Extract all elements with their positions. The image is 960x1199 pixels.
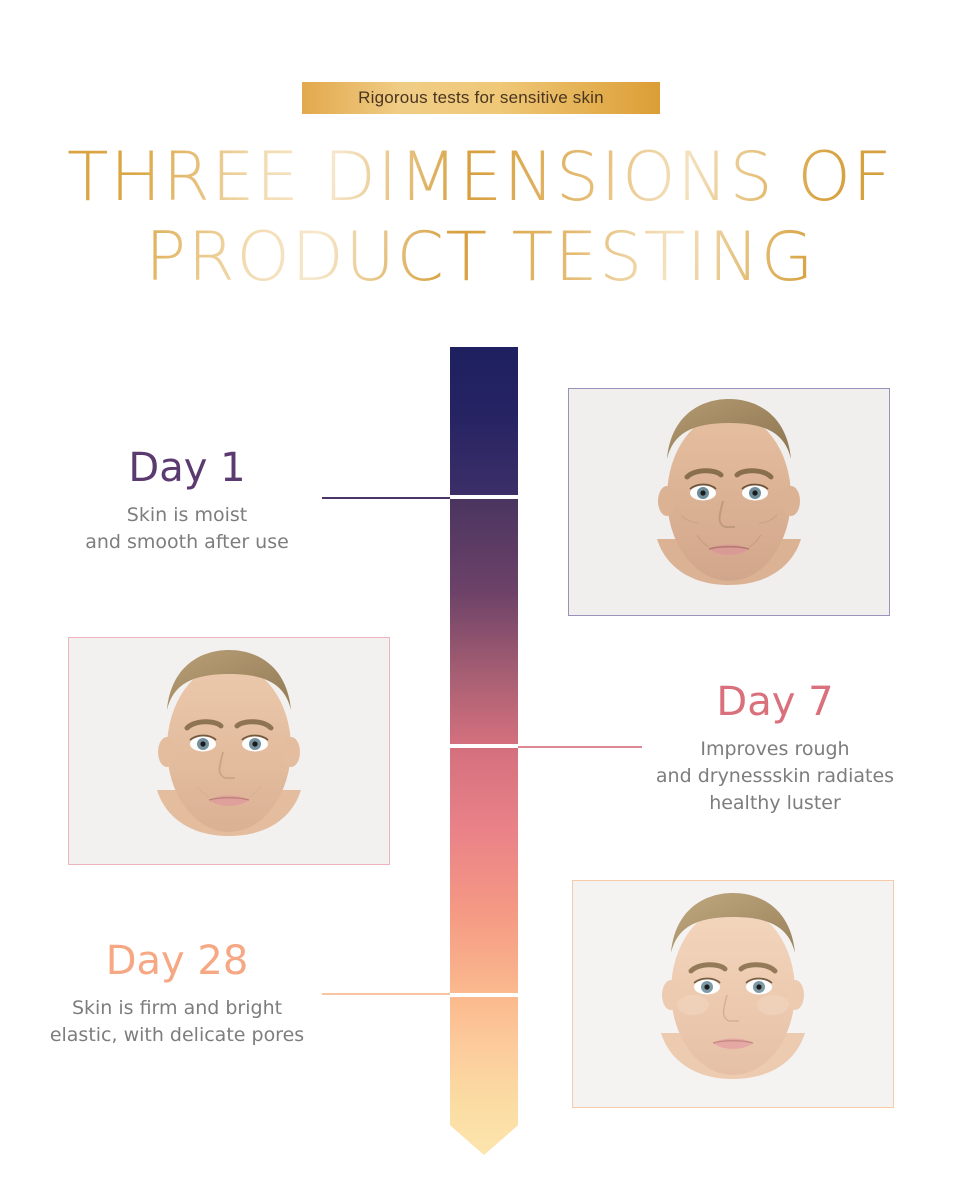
stage-text-day-28: Day 28 Skin is firm and bright elastic, … bbox=[32, 941, 322, 1049]
stage-description-day-7: Improves rough and drynessskin radiates … bbox=[640, 736, 910, 817]
timeline-spine bbox=[450, 347, 518, 1155]
stage-description-day-28: Skin is firm and bright elastic, with de… bbox=[32, 995, 322, 1049]
stage-desc-line-2: elastic, with delicate pores bbox=[32, 1022, 322, 1049]
stage-desc-line-2: and smooth after use bbox=[52, 529, 322, 556]
spine-arrow-tip bbox=[450, 1107, 518, 1155]
connector-line-day-28 bbox=[322, 993, 450, 995]
stage-label-day-7: Day 7 bbox=[640, 682, 910, 722]
page-title: THREE DIMENSIONS OF PRODUCT TESTING bbox=[0, 138, 960, 298]
connector-line-day-7 bbox=[518, 746, 642, 748]
face-image-day-7 bbox=[69, 638, 389, 864]
connector-line-day-1 bbox=[322, 497, 450, 499]
stage-label-day-1: Day 1 bbox=[52, 448, 322, 488]
page-title-line-2: PRODUCT TESTING bbox=[0, 218, 960, 298]
spine-segment-4 bbox=[450, 997, 518, 1107]
stage-desc-line-1: Skin is firm and bright bbox=[32, 995, 322, 1022]
stage-photo-day-1 bbox=[568, 388, 890, 616]
face-image-day-1 bbox=[569, 389, 889, 615]
stage-photo-day-28 bbox=[572, 880, 894, 1108]
stage-text-day-1: Day 1 Skin is moist and smooth after use bbox=[52, 448, 322, 556]
stage-photo-day-7 bbox=[68, 637, 390, 865]
banner-text: Rigorous tests for sensitive skin bbox=[358, 88, 604, 108]
stage-desc-line-1: Skin is moist bbox=[52, 502, 322, 529]
face-illustration bbox=[573, 881, 893, 1107]
stage-desc-line-3: healthy luster bbox=[640, 790, 910, 817]
stage-description-day-1: Skin is moist and smooth after use bbox=[52, 502, 322, 556]
banner-ribbon: Rigorous tests for sensitive skin bbox=[302, 82, 660, 114]
stage-desc-line-1: Improves rough bbox=[640, 736, 910, 763]
spine-segment-2 bbox=[450, 499, 518, 744]
stage-text-day-7: Day 7 Improves rough and drynessskin rad… bbox=[640, 682, 910, 817]
face-illustration bbox=[569, 389, 889, 615]
stage-label-day-28: Day 28 bbox=[32, 941, 322, 981]
spine-segment-3 bbox=[450, 748, 518, 993]
spine-segment-1 bbox=[450, 347, 518, 495]
face-image-day-28 bbox=[573, 881, 893, 1107]
face-illustration bbox=[69, 638, 389, 864]
page-title-line-1: THREE DIMENSIONS OF bbox=[0, 138, 960, 218]
stage-desc-line-2: and drynessskin radiates bbox=[640, 763, 910, 790]
